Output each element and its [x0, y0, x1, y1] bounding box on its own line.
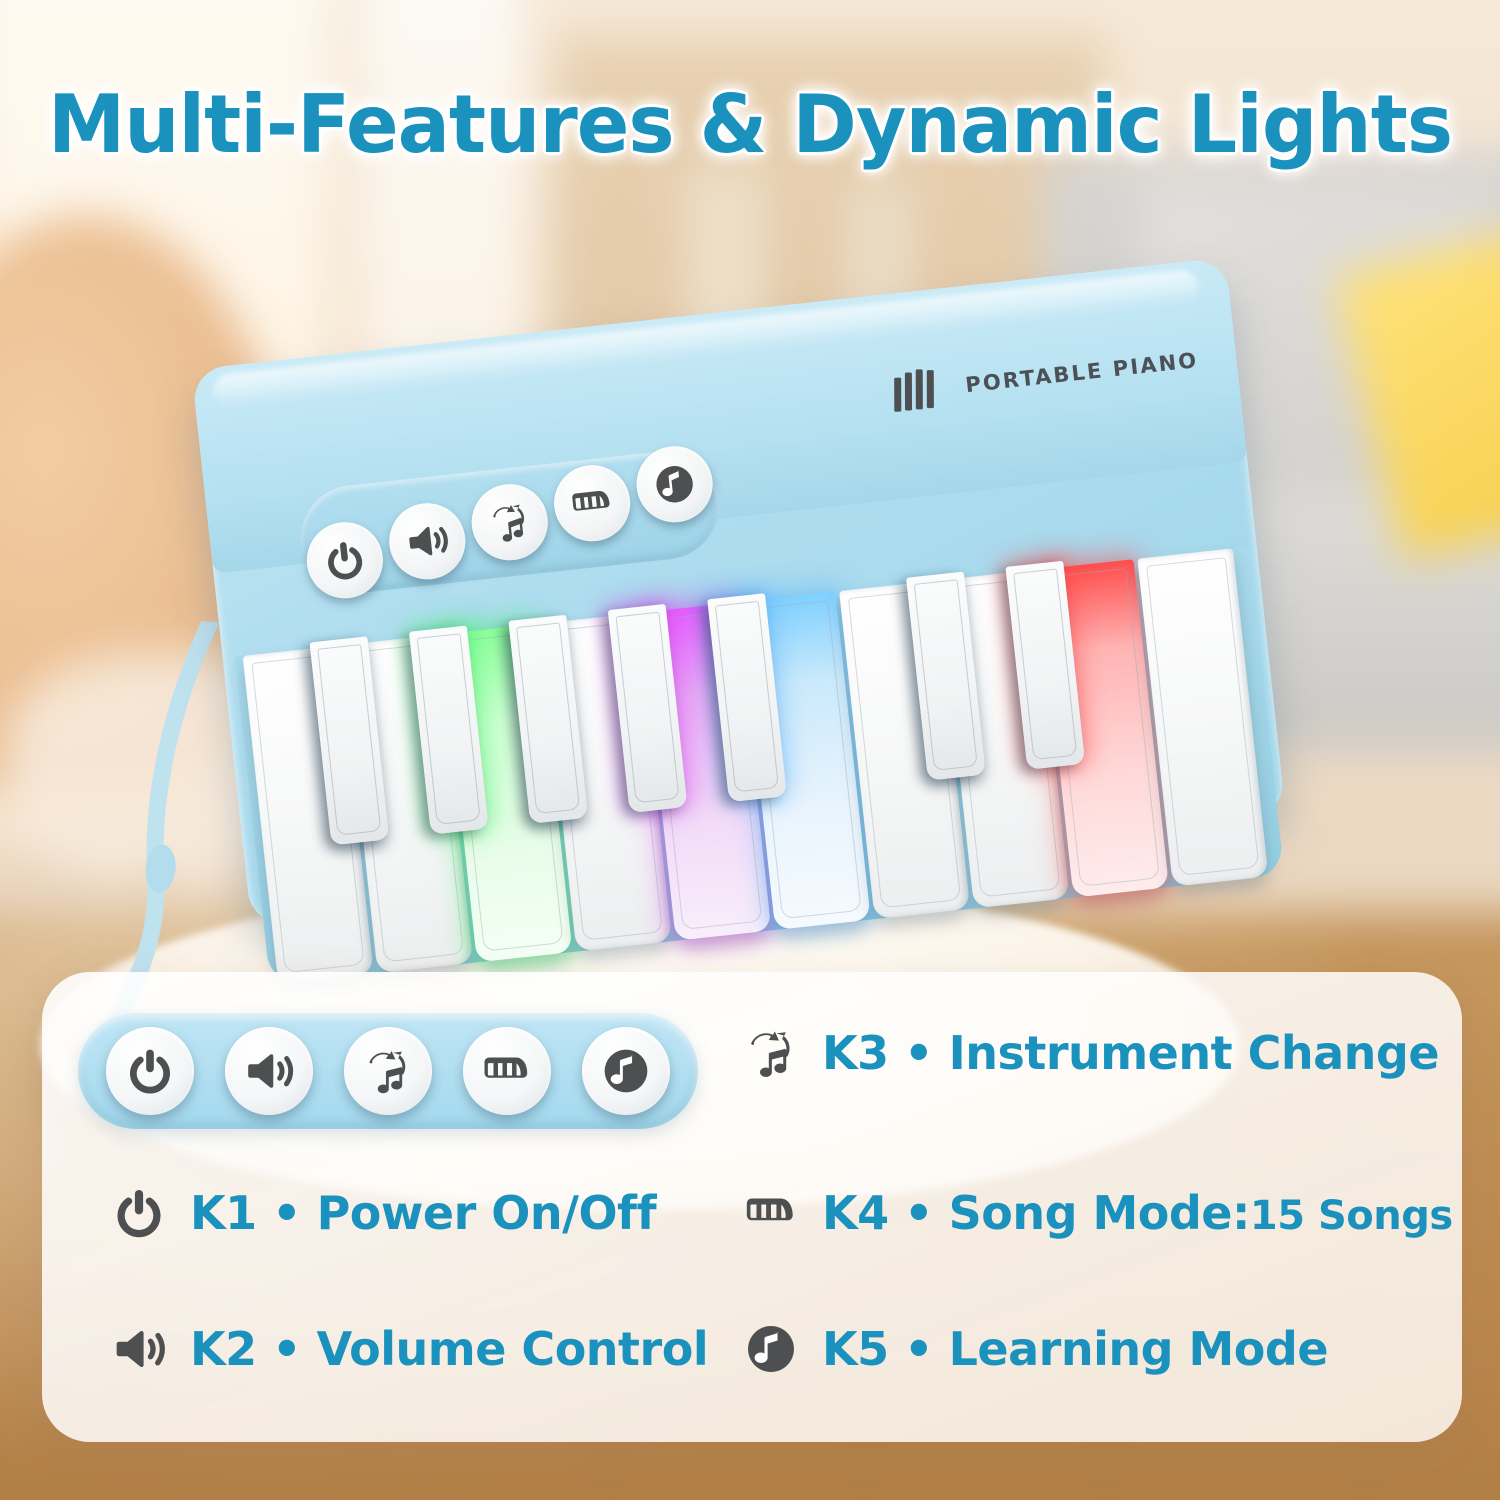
legend-label-k1: K1 • Power On/Off	[190, 1186, 656, 1240]
legend-label-k3: K3 • Instrument Change	[822, 1026, 1439, 1080]
volume-speaker-icon	[402, 516, 453, 567]
page-title: Multi-Features & Dynamic Lights	[23, 78, 1478, 171]
legend-label-k5: K5 • Learning Mode	[822, 1322, 1328, 1376]
legend-label-k4: K4 • Song Mode:15 Songs	[822, 1186, 1453, 1240]
legend-learning-button[interactable]	[582, 1027, 670, 1115]
song-mode-button[interactable]	[550, 461, 634, 545]
power-icon	[108, 1182, 170, 1244]
learning-mode-note-icon	[740, 1318, 802, 1380]
legend-item-k5: K5 • Learning Mode	[740, 1318, 1328, 1380]
legend-item-k2: K2 • Volume Control	[108, 1318, 708, 1380]
power-icon	[320, 535, 371, 586]
song-mode-keys-icon	[480, 1044, 534, 1098]
instrument-change-notes-icon	[361, 1044, 415, 1098]
portable-piano-device: PORTABLE PIANO	[180, 243, 1339, 1057]
legend-label-k2: K2 • Volume Control	[190, 1322, 708, 1376]
power-icon	[123, 1044, 177, 1098]
volume-speaker-icon	[108, 1318, 170, 1380]
learning-mode-button[interactable]	[633, 442, 717, 526]
volume-speaker-icon	[242, 1044, 296, 1098]
song-mode-keys-icon	[740, 1182, 802, 1244]
product-feature-image: Multi-Features & Dynamic Lights	[0, 0, 1500, 1500]
learning-mode-note-icon	[599, 1044, 653, 1098]
legend-instrument-button[interactable]	[344, 1027, 432, 1115]
legend-item-k4: K4 • Song Mode:15 Songs	[740, 1182, 1453, 1244]
legend-item-k1: K1 • Power On/Off	[108, 1182, 656, 1244]
instrument-change-button[interactable]	[468, 480, 552, 564]
song-mode-keys-icon	[567, 478, 618, 529]
legend-button-strip	[78, 1013, 698, 1129]
instrument-change-notes-icon	[484, 497, 535, 548]
legend-volume-button[interactable]	[225, 1027, 313, 1115]
volume-button[interactable]	[385, 499, 469, 583]
legend-song-button[interactable]	[463, 1027, 551, 1115]
instrument-change-notes-icon	[740, 1022, 802, 1084]
learning-mode-note-icon	[649, 459, 700, 510]
legend-power-button[interactable]	[106, 1027, 194, 1115]
legend-item-k3: K3 • Instrument Change	[740, 1022, 1439, 1084]
piano-keys-logo-icon	[889, 365, 946, 416]
